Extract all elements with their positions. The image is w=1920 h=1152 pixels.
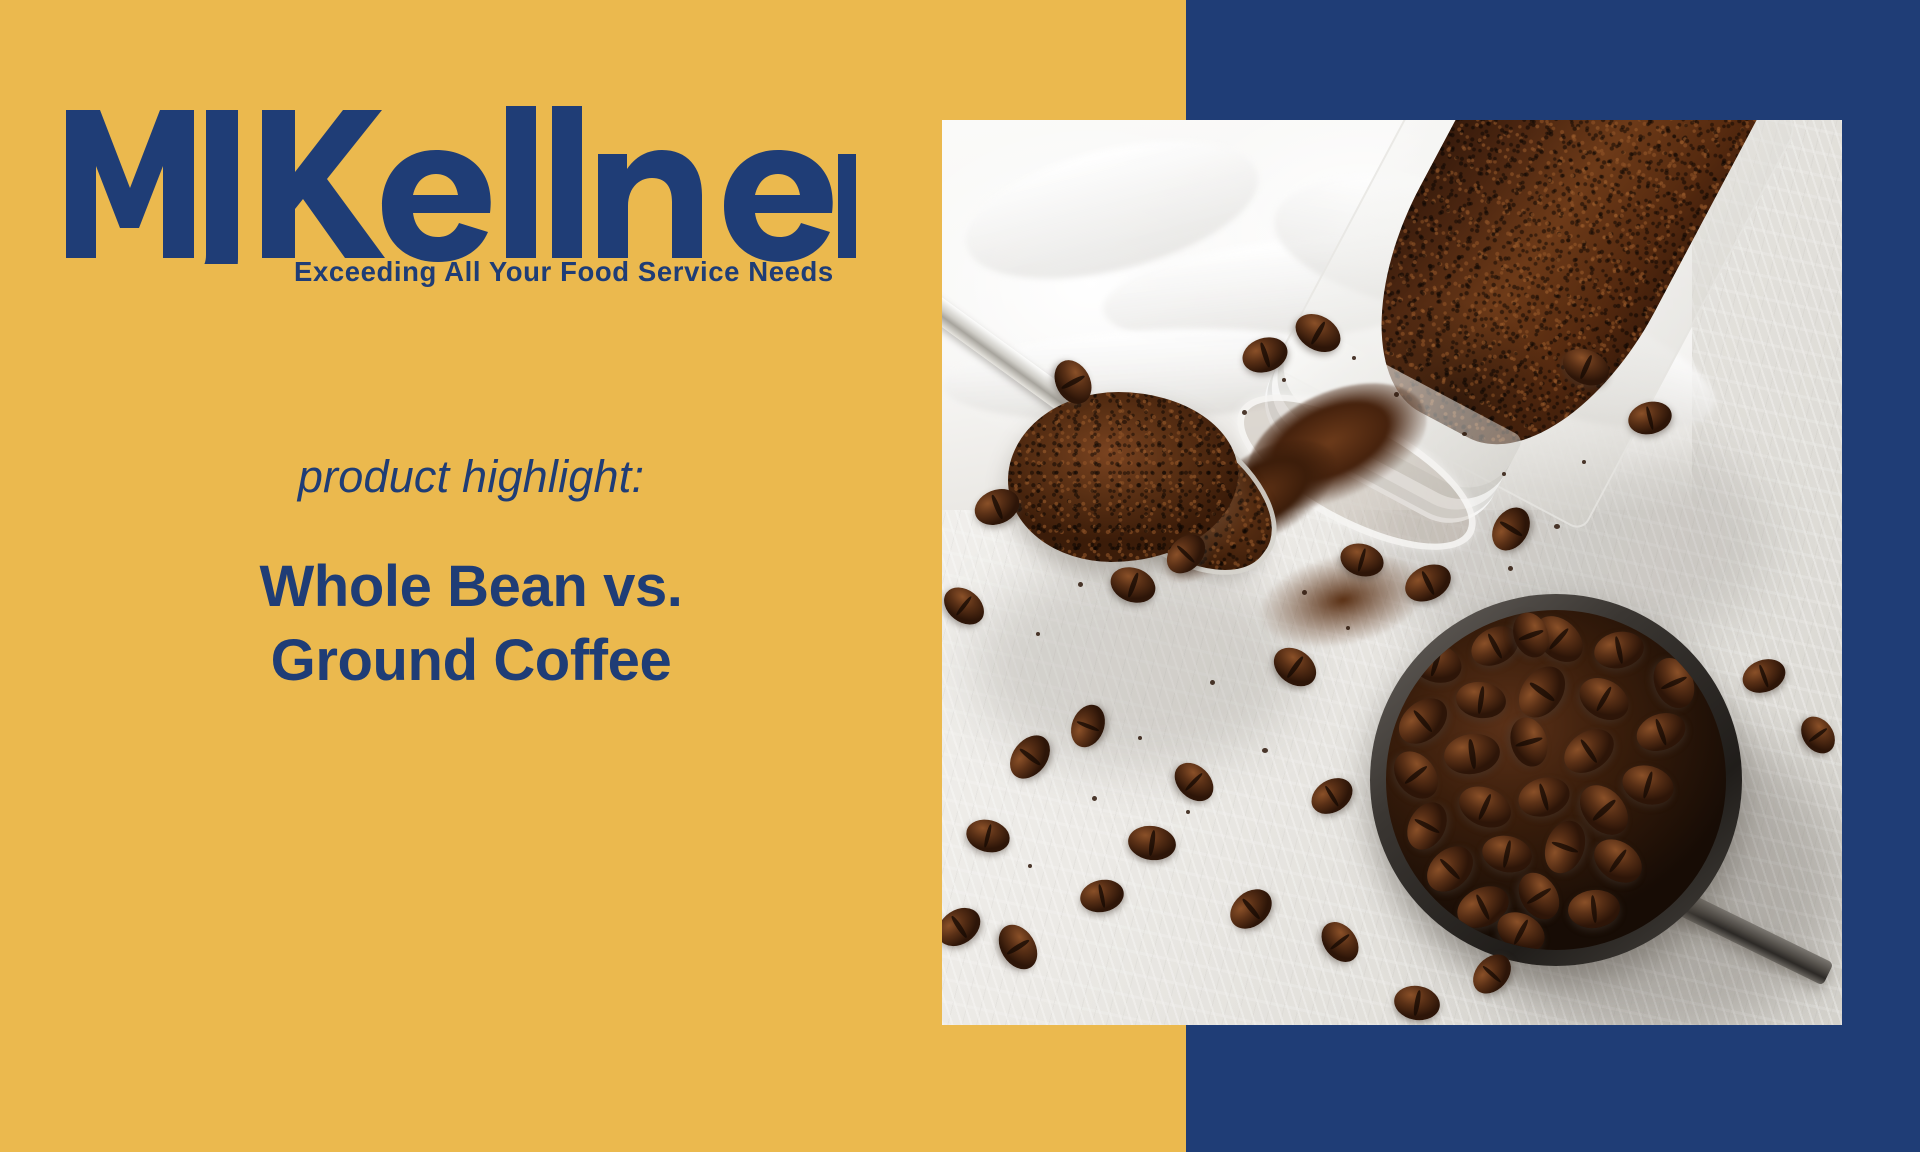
brand-logo[interactable]: Exceeding All Your Food Service Needs: [66, 104, 866, 264]
brand-tagline: Exceeding All Your Food Service Needs: [294, 256, 834, 288]
coffee-bean: [1566, 887, 1622, 930]
headline-line-1: Whole Bean vs.: [0, 550, 942, 624]
ground-speck: [1068, 472, 1072, 476]
coffee-bean: [1505, 713, 1553, 771]
whole-beans-in-cup: [1386, 610, 1726, 950]
coffee-bean: [1538, 815, 1592, 879]
ground-speck: [1582, 460, 1586, 464]
coffee-bean: [1631, 707, 1690, 758]
ground-speck: [1554, 524, 1560, 529]
coffee-bean: [1514, 772, 1574, 823]
ground-speck: [1120, 532, 1124, 536]
ground-speck: [1138, 736, 1142, 740]
eyebrow-label: product highlight:: [0, 452, 942, 502]
ground-speck: [1028, 864, 1032, 868]
ground-speck: [1122, 420, 1127, 424]
coffee-bean: [1479, 831, 1535, 877]
ground-speck: [1302, 590, 1307, 595]
coffee-bean: [1556, 720, 1622, 782]
logo-wordmark-mjkellner: [66, 104, 856, 264]
ground-speck: [1204, 436, 1210, 441]
ground-speck: [1078, 582, 1083, 587]
ground-speck: [1036, 632, 1040, 636]
ground-speck: [1346, 626, 1350, 630]
ground-speck: [1352, 356, 1356, 360]
coffee-bean: [1586, 830, 1650, 891]
ground-speck: [1262, 748, 1268, 753]
coffee-bean: [1509, 658, 1574, 727]
photo-surface: [942, 120, 1842, 1025]
coffee-bean: [1441, 730, 1502, 777]
coffee-bean: [1453, 779, 1518, 836]
ground-speck: [1092, 796, 1097, 801]
headline-copy-block: product highlight: Whole Bean vs. Ground…: [0, 452, 942, 698]
marketing-banner: Exceeding All Your Food Service Needs pr…: [0, 0, 1920, 1152]
ground-speck: [1282, 378, 1286, 382]
ground-speck: [1156, 486, 1162, 492]
coffee-bean: [1618, 760, 1678, 811]
page-title: Whole Bean vs. Ground Coffee: [0, 550, 942, 698]
product-photo-coffee: [942, 120, 1842, 1025]
ground-speck: [1242, 410, 1247, 415]
coffee-bean: [1386, 743, 1447, 807]
ground-speck: [1394, 392, 1399, 397]
ground-speck: [1412, 316, 1416, 320]
coffee-bean: [1454, 679, 1509, 722]
coffee-bean: [1572, 670, 1636, 729]
ground-speck: [1210, 680, 1215, 685]
measuring-cup: [1370, 594, 1770, 994]
ground-speck: [1186, 810, 1190, 814]
headline-line-2: Ground Coffee: [0, 624, 942, 698]
ground-speck: [1508, 566, 1513, 571]
ground-speck: [1462, 432, 1467, 436]
coffee-bean: [1591, 627, 1647, 673]
ground-speck: [1502, 472, 1506, 476]
